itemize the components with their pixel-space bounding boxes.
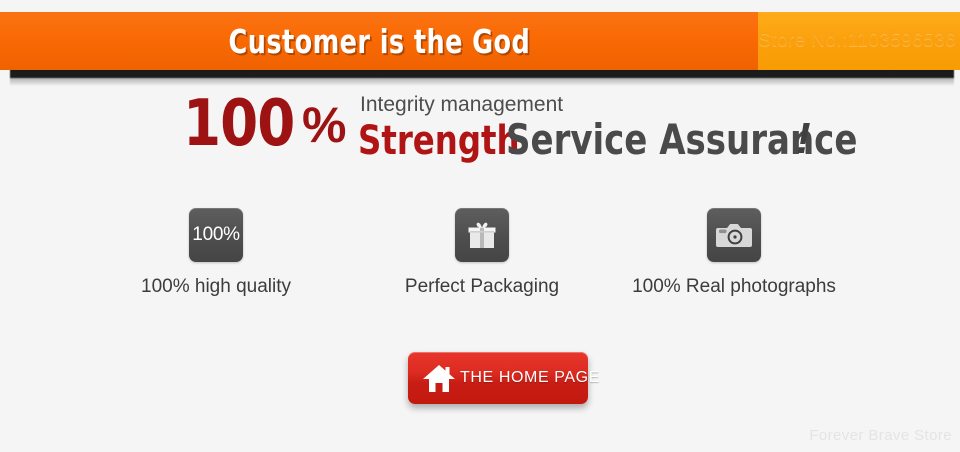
banner-left-section: Customer is the God — [0, 12, 758, 70]
percent-badge-icon: 100% — [189, 208, 243, 262]
feature-label-real-photographs: 100% Real photographs — [594, 276, 874, 298]
feature-high-quality: 100% 100% high quality — [76, 208, 356, 298]
feature-label-high-quality: 100% high quality — [76, 276, 356, 298]
feature-real-photographs: 100% Real photographs — [594, 208, 874, 298]
store-watermark: Forever Brave Store — [809, 427, 952, 444]
promo-banner: Customer is the God Store No.:1103596536 — [0, 12, 960, 70]
banner-right-section: Store No.:1103596536 — [758, 12, 960, 70]
home-page-button-label: THE HOME PAGE — [460, 369, 600, 387]
headline-integrity-management: Integrity management — [360, 94, 563, 116]
feature-perfect-packaging: Perfect Packaging — [342, 208, 622, 298]
headline-strength: Strength — [358, 120, 520, 162]
store-number: Store No.:1103596536 — [758, 30, 956, 52]
camera-icon — [707, 208, 761, 262]
headline-block: 100 % Integrity management Strength Serv… — [0, 92, 960, 180]
percent-badge-text: 100% — [192, 224, 239, 246]
banner-title: Customer is the God — [228, 22, 530, 61]
banner-body: Customer is the God Store No.:1103596536 — [0, 12, 960, 70]
headline-percent-sign: % — [302, 100, 346, 150]
home-page-button[interactable]: THE HOME PAGE — [408, 352, 588, 404]
headline-number: 100 — [183, 92, 294, 156]
headline-exclamation: ! — [796, 116, 811, 162]
gift-box-icon — [455, 208, 509, 262]
feature-label-perfect-packaging: Perfect Packaging — [342, 276, 622, 298]
house-icon — [422, 363, 456, 393]
